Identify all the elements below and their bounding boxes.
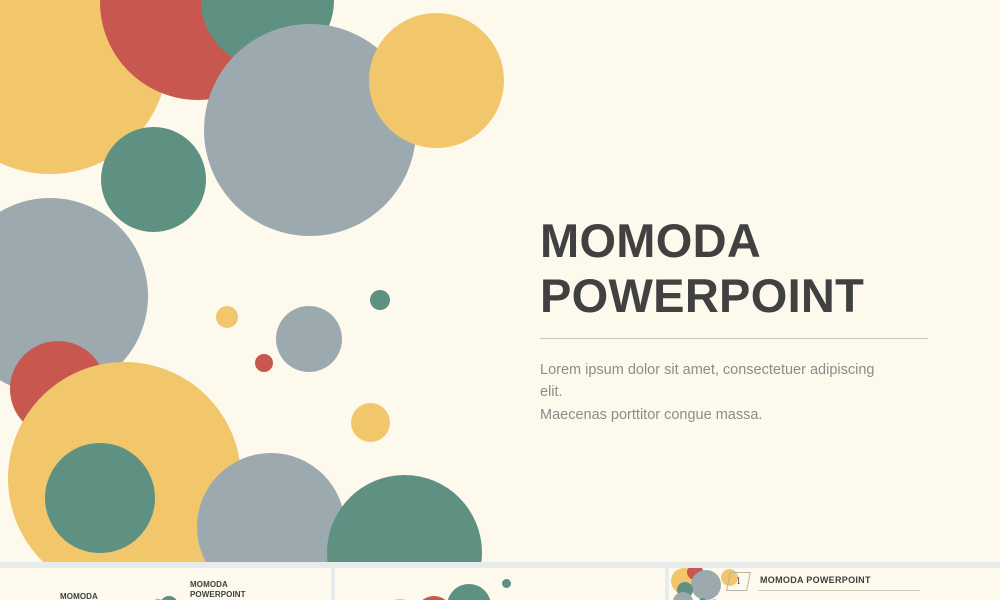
title-divider (540, 338, 928, 339)
thumbnail-section-rule (758, 590, 920, 591)
thumb2-circle-3 (502, 579, 511, 588)
teal-mid-left-circle (101, 127, 206, 232)
dot-teal-small-circle (370, 290, 390, 310)
thumbnail-section-number-badge: 1 (726, 572, 751, 591)
thumbnail-label-right: MOMODA POWERPOINT (190, 580, 246, 600)
dot-yellow-small-circle (216, 306, 238, 328)
dot-red-small-circle (255, 354, 273, 372)
thumbnail-section-number: 1 (736, 576, 741, 587)
teal-inner-lower-circle (45, 443, 155, 553)
page-title: MOMODA POWERPOINT (540, 214, 940, 324)
dot-yellow-medium-circle (351, 403, 390, 442)
thumbnail-slide-cover[interactable] (335, 568, 666, 600)
thumb1-circle-0 (160, 596, 178, 600)
slide-text-block: MOMODA POWERPOINT Lorem ipsum dolor sit … (540, 214, 940, 441)
dot-gray-medium-circle (276, 306, 342, 372)
thumbnail-section-heading: MOMODA POWERPOINT (760, 575, 871, 585)
thumb3-circle-2 (691, 570, 721, 600)
thumbnail-slide-agenda[interactable]: MOMODA MOMODA POWERPOINT (0, 568, 331, 600)
yellow-top-right-circle (369, 13, 504, 148)
slide-canvas[interactable]: MOMODA POWERPOINT Lorem ipsum dolor sit … (0, 0, 1000, 562)
slide-subtitle: Lorem ipsum dolor sit amet, consectetuer… (540, 359, 900, 426)
teal-bottom-right-circle (327, 475, 482, 562)
thumbnail-label-left: MOMODA (60, 592, 98, 600)
thumb2-circle-2 (447, 584, 491, 600)
slide-editor-window: MOMODA POWERPOINT Lorem ipsum dolor sit … (0, 0, 1000, 600)
